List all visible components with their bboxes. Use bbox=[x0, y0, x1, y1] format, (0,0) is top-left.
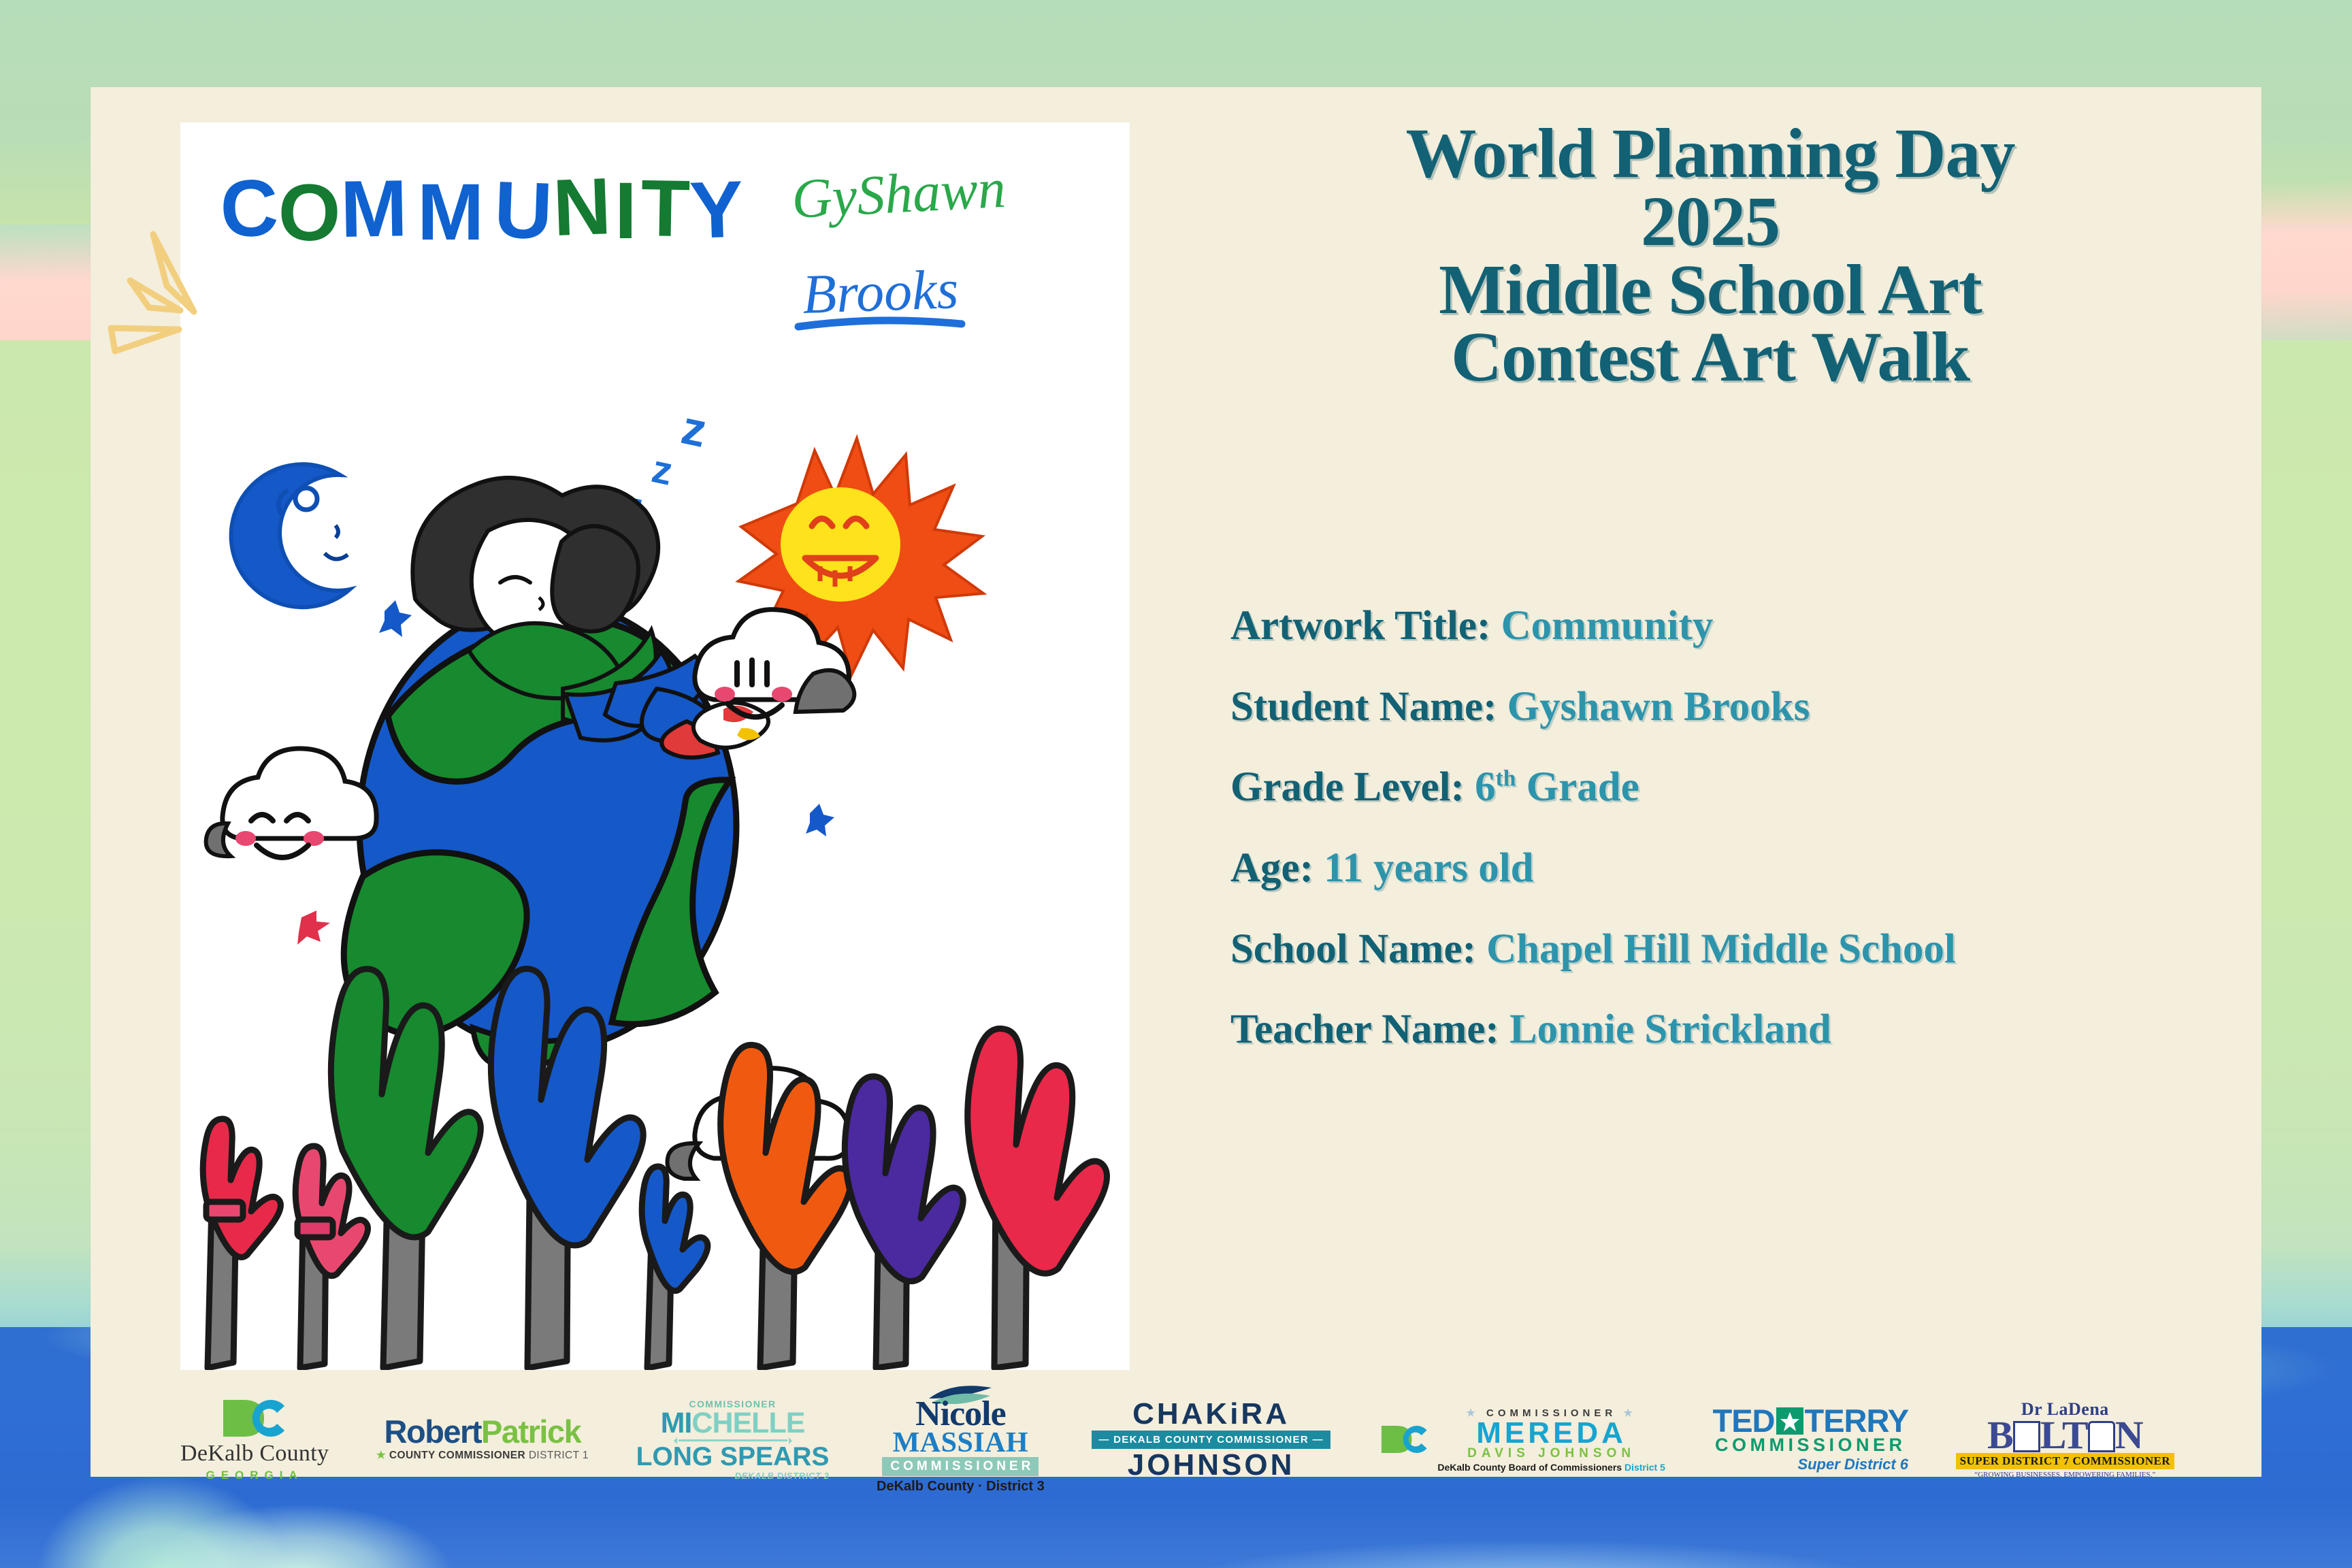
chakira-last-name: JOHNSON bbox=[1128, 1451, 1295, 1480]
michelle-last-name: LONG SPEARS bbox=[636, 1444, 830, 1469]
artwork-details-list: Artwork Title: Community Student Name: G… bbox=[1230, 604, 2333, 1089]
ted-terry-role: COMMISSIONER bbox=[1715, 1436, 1906, 1454]
mereda-last-name: DAVIS JOHNSON bbox=[1467, 1447, 1635, 1460]
svg-text:Brooks: Brooks bbox=[801, 258, 959, 325]
title-line-2: 2025 bbox=[1200, 188, 2221, 256]
nicole-district: DeKalb County · District 3 bbox=[877, 1479, 1045, 1494]
detail-value-school-name: Chapel Hill Middle School bbox=[1486, 926, 1956, 972]
michelle-arrow-divider-icon bbox=[679, 1439, 787, 1441]
svg-text:GyShawn: GyShawn bbox=[790, 157, 1007, 230]
detail-row-school-name: School Name: Chapel Hill Middle School bbox=[1230, 928, 2333, 972]
logo-chakira-johnson: CHAKiRA — DEKALB COUNTY COMMISSIONER — J… bbox=[1092, 1400, 1330, 1480]
mereda-first-name: MEREDA bbox=[1476, 1419, 1627, 1448]
detail-label-teacher-name: Teacher Name: bbox=[1230, 1007, 1499, 1052]
robert-patrick-name: RobertPatrick bbox=[385, 1418, 581, 1446]
svg-text:O: O bbox=[278, 167, 340, 259]
svg-text:I: I bbox=[615, 166, 636, 256]
robert-patrick-first: Robert bbox=[385, 1414, 481, 1450]
detail-label-school-name: School Name: bbox=[1230, 926, 1476, 972]
title-line-1: World Planning Day bbox=[1200, 120, 2221, 188]
student-artwork[interactable]: C O M M U N I T Y GyShawn Brooks z z z bbox=[180, 122, 1130, 1370]
detail-row-student-name: Student Name: Gyshawn Brooks bbox=[1230, 685, 2333, 730]
dekalb-dc-mark-icon bbox=[218, 1397, 291, 1439]
event-info-column: World Planning Day 2025 Middle School Ar… bbox=[1200, 120, 2221, 391]
detail-row-age: Age: 11 years old bbox=[1230, 847, 2333, 891]
detail-row-grade-level: Grade Level: 6th Grade bbox=[1230, 766, 2333, 810]
logo-ladena-bolton: Dr LaDena B LT N SUPER DISTRICT 7 COMMIS… bbox=[1956, 1401, 2174, 1479]
robert-patrick-subtitle: ★ COUNTY COMMISSIONER DISTRICT 1 bbox=[376, 1449, 589, 1462]
page-title: World Planning Day 2025 Middle School Ar… bbox=[1200, 120, 2221, 391]
svg-text:T: T bbox=[640, 163, 690, 254]
logo-dekalb-county: DeKalb County GEORGIA bbox=[180, 1397, 329, 1482]
svg-text:M: M bbox=[417, 167, 483, 257]
svg-text:C: C bbox=[218, 163, 278, 255]
ted-terry-name: TED TERRY bbox=[1713, 1406, 1909, 1437]
detail-label-age: Age: bbox=[1230, 845, 1313, 891]
art-walk-card: C O M M U N I T Y GyShawn Brooks z z z bbox=[91, 87, 2261, 1477]
chakira-first-name: CHAKiRA bbox=[1132, 1400, 1290, 1428]
detail-label-grade-level: Grade Level: bbox=[1230, 764, 1465, 810]
logo-mereda-davis-johnson: ★ COMMISSIONER ★ MEREDA DAVIS JOHNSON De… bbox=[1377, 1407, 1665, 1473]
bolton-last-name: B LT N bbox=[1987, 1418, 2143, 1452]
ted-terry-district: Super District 6 bbox=[1797, 1456, 1908, 1473]
nicole-first-name: Nicole bbox=[915, 1399, 1006, 1430]
logo-ted-terry: TED TERRY COMMISSIONER Super District 6 bbox=[1713, 1406, 1909, 1474]
dekalb-county-name: DeKalb County bbox=[180, 1441, 329, 1467]
robert-patrick-last: Patrick bbox=[481, 1414, 581, 1450]
chakira-role-bar: — DEKALB COUNTY COMMISSIONER — bbox=[1092, 1431, 1330, 1449]
detail-value-teacher-name: Lonnie Strickland bbox=[1509, 1007, 1831, 1052]
detail-value-artwork-title: Community bbox=[1501, 603, 1714, 649]
grade-ordinal-suffix: th bbox=[1496, 766, 1516, 791]
detail-row-artwork-title: Artwork Title: Community bbox=[1230, 604, 2333, 649]
title-line-3: Middle School Art bbox=[1200, 256, 2221, 324]
nicole-last-name: MASSIAH bbox=[893, 1430, 1029, 1456]
title-line-4: Contest Art Walk bbox=[1200, 323, 2221, 391]
detail-label-student-name: Student Name: bbox=[1230, 684, 1497, 730]
logo-robert-patrick: RobertPatrick ★ COUNTY COMMISSIONER DIST… bbox=[376, 1418, 589, 1461]
detail-label-artwork-title: Artwork Title: bbox=[1230, 603, 1490, 649]
house-icon bbox=[2088, 1421, 2115, 1452]
mereda-dc-mark-icon bbox=[1377, 1416, 1432, 1463]
ted-terry-last: TERRY bbox=[1805, 1406, 1909, 1437]
svg-text:U: U bbox=[493, 165, 553, 257]
svg-text:N: N bbox=[551, 161, 611, 253]
nicole-role: COMMISSIONER bbox=[882, 1457, 1039, 1476]
michelle-first-name: MICHELLE bbox=[661, 1409, 805, 1437]
svg-text:M: M bbox=[340, 163, 407, 255]
logo-nicole-massiah: Nicole MASSIAH COMMISSIONER DeKalb Count… bbox=[877, 1385, 1045, 1494]
sponsor-logo-strip: DeKalb County GEORGIA RobertPatrick ★ CO… bbox=[180, 1397, 2174, 1482]
svg-text:Y: Y bbox=[688, 164, 744, 256]
detail-row-teacher-name: Teacher Name: Lonnie Strickland bbox=[1230, 1008, 2333, 1052]
sparkle-burst-icon bbox=[91, 204, 213, 374]
detail-value-grade-level: 6th Grade bbox=[1475, 764, 1639, 810]
mereda-board-line: DeKalb County Board of Commissioners Dis… bbox=[1437, 1462, 1665, 1473]
building-icon bbox=[2013, 1421, 2040, 1452]
artwork-title-lettering: C O M M U N I T Y bbox=[218, 161, 744, 258]
ted-terry-first: TED bbox=[1713, 1406, 1775, 1437]
artwork-drawing: C O M M U N I T Y GyShawn Brooks z z z bbox=[180, 122, 1130, 1370]
star-badge-icon bbox=[1776, 1407, 1803, 1435]
detail-value-student-name: Gyshawn Brooks bbox=[1507, 684, 1810, 730]
bolton-tagline: “GROWING BUSINESSES. EMPOWERING FAMILIES… bbox=[1974, 1471, 2155, 1479]
logo-michelle-long-spears: COMMISSIONER MICHELLE LONG SPEARS DEKALB… bbox=[636, 1399, 830, 1482]
dekalb-county-state: GEORGIA bbox=[206, 1469, 303, 1482]
michelle-district: DEKALB DISTRICT 2 bbox=[735, 1471, 830, 1481]
detail-value-age: 11 years old bbox=[1324, 845, 1533, 891]
star-icon: ★ bbox=[376, 1450, 386, 1461]
